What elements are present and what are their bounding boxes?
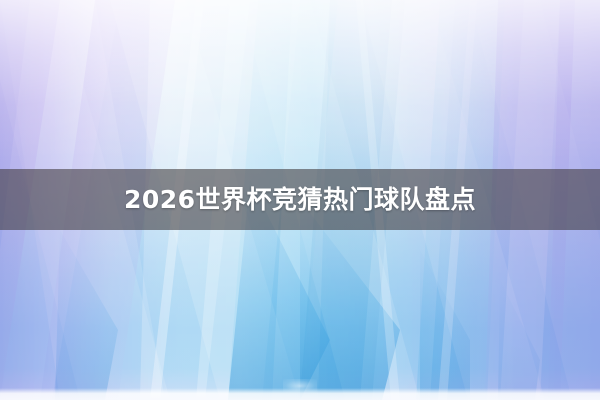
page-title: 2026世界杯竞猜热门球队盘点	[124, 187, 476, 212]
bottom-strip	[0, 388, 600, 400]
banner-image: 2026世界杯竞猜热门球队盘点	[0, 0, 600, 400]
title-band: 2026世界杯竞猜热门球队盘点	[0, 169, 600, 230]
